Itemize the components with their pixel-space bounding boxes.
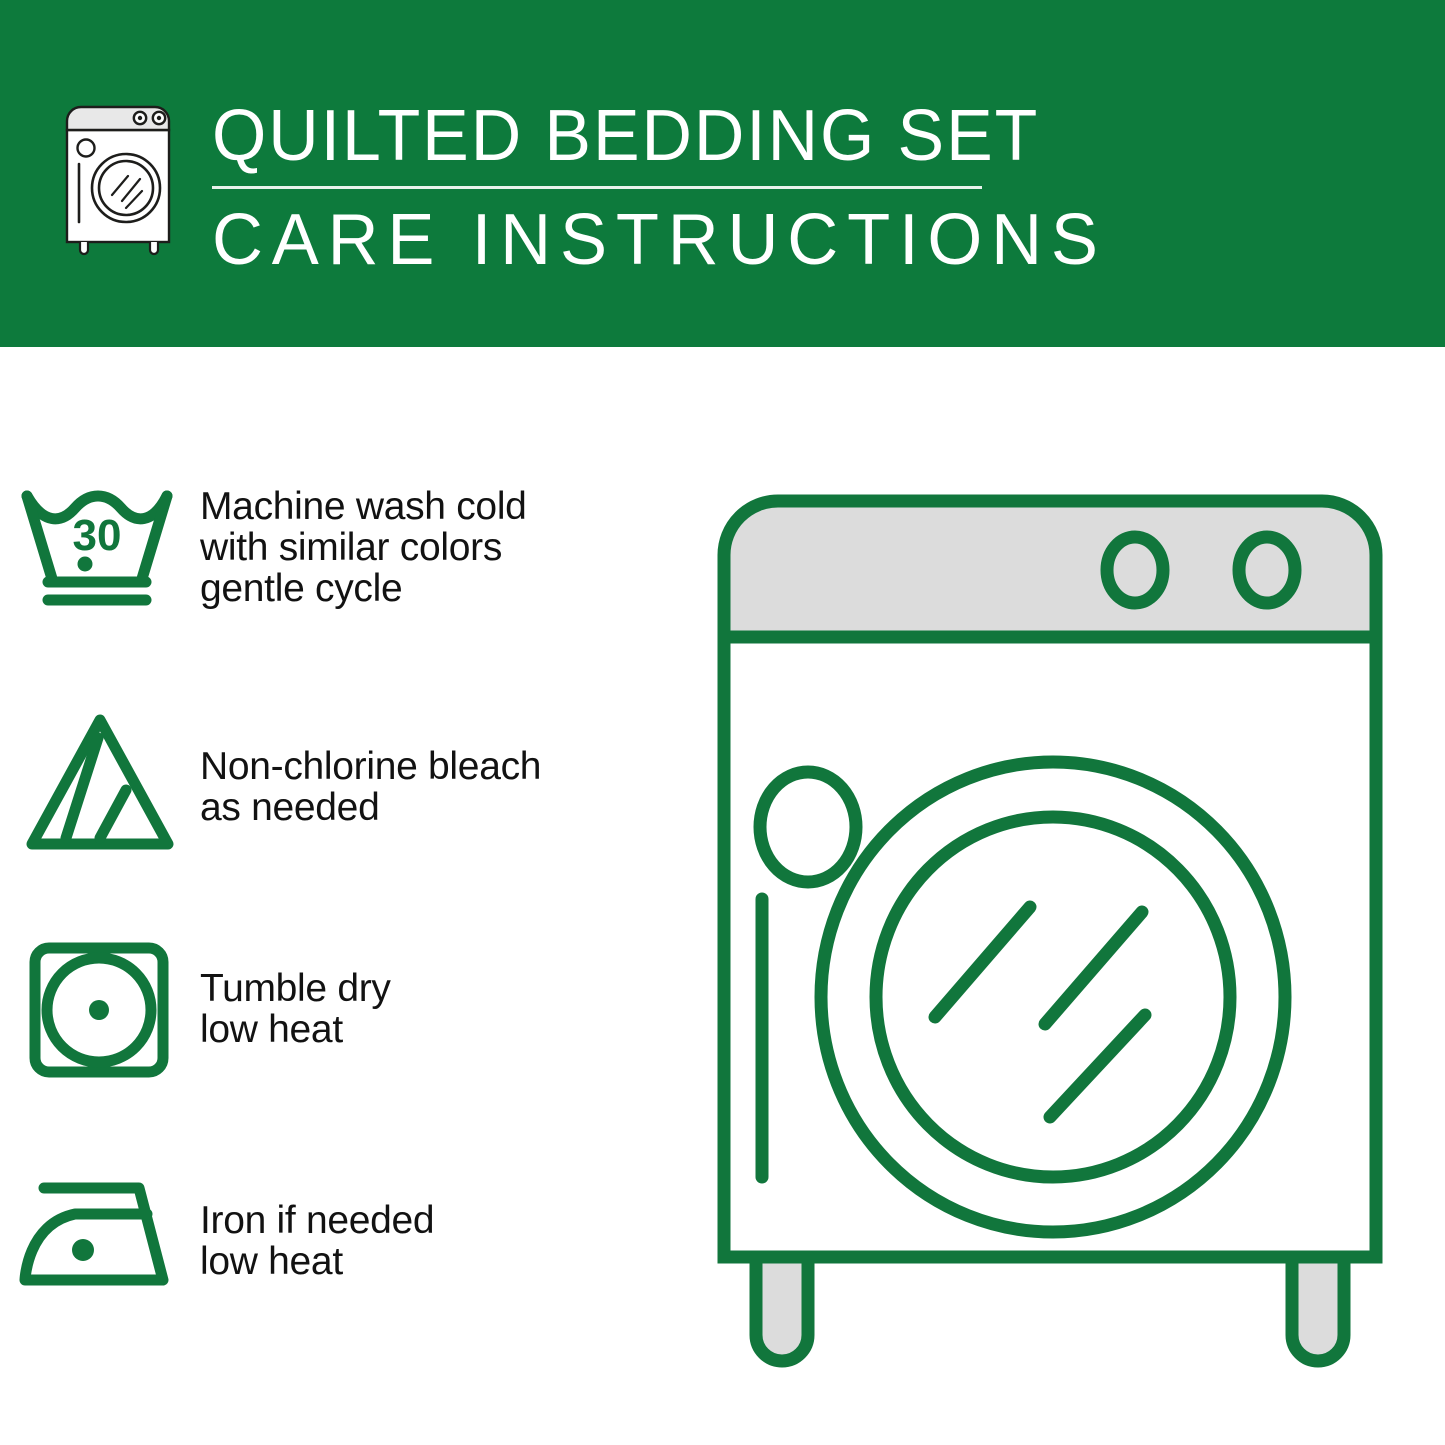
tumble-dry-low-icon xyxy=(0,932,200,1083)
iron-low-heat-icon xyxy=(0,1162,200,1293)
front-load-washing-machine-illustration xyxy=(710,487,1390,1377)
header-title-group: QUILTED BEDDING SET CARE INSTRUCTIONS xyxy=(212,96,982,279)
care-line: Tumble dry xyxy=(200,968,391,1009)
care-text-bleach: Non-chlorine bleach as needed xyxy=(200,702,541,828)
care-line: low heat xyxy=(200,1009,391,1050)
care-row-iron: Iron if needed low heat xyxy=(0,1162,700,1392)
care-line: Machine wash cold xyxy=(200,486,527,527)
care-instruction-list: 30 Machine wash cold with similar colors… xyxy=(0,347,700,1445)
svg-text:30: 30 xyxy=(73,511,122,560)
content-area: 30 Machine wash cold with similar colors… xyxy=(0,347,1445,1445)
care-line: low heat xyxy=(200,1241,434,1282)
care-line: Iron if needed xyxy=(200,1200,434,1241)
washing-machine-icon xyxy=(60,100,182,258)
title-divider xyxy=(212,186,982,189)
care-line: Non-chlorine bleach xyxy=(200,746,541,787)
page-title: QUILTED BEDDING SET xyxy=(212,96,959,176)
header-content: QUILTED BEDDING SET CARE INSTRUCTIONS xyxy=(60,96,982,279)
care-text-iron: Iron if needed low heat xyxy=(200,1162,434,1282)
wash-tub-30-gentle-icon: 30 xyxy=(0,472,200,618)
header-banner: QUILTED BEDDING SET CARE INSTRUCTIONS xyxy=(0,0,1445,347)
care-text-wash: Machine wash cold with similar colors ge… xyxy=(200,472,527,609)
page-subtitle: CARE INSTRUCTIONS xyxy=(212,201,967,279)
care-line: with similar colors xyxy=(200,527,527,568)
care-line: gentle cycle xyxy=(200,568,527,609)
non-chlorine-bleach-triangle-icon xyxy=(0,702,200,858)
care-row-wash: 30 Machine wash cold with similar colors… xyxy=(0,472,700,702)
care-row-tumble-dry: Tumble dry low heat xyxy=(0,932,700,1162)
care-text-tumble-dry: Tumble dry low heat xyxy=(200,932,391,1050)
care-instructions-page: QUILTED BEDDING SET CARE INSTRUCTIONS 30 xyxy=(0,0,1445,1445)
illustration-column xyxy=(700,347,1445,1445)
care-row-bleach: Non-chlorine bleach as needed xyxy=(0,702,700,932)
care-line: as needed xyxy=(200,787,541,828)
